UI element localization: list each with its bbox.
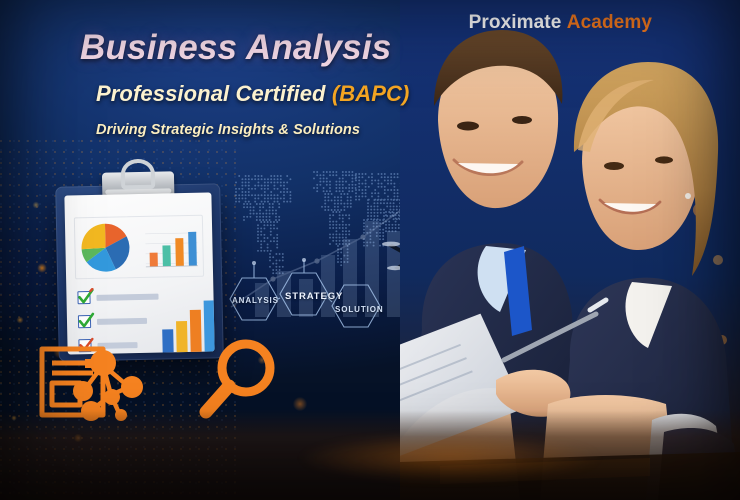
list-item bbox=[77, 289, 171, 304]
placeholder-text-bar bbox=[96, 293, 158, 300]
checkbox-checked[interactable] bbox=[78, 315, 91, 328]
checkbox-checked[interactable] bbox=[77, 291, 90, 304]
logo-word-one: Proximate bbox=[469, 12, 562, 33]
subtitle-acronym: (BAPC) bbox=[332, 81, 410, 106]
tagline: Driving Strategic Insights & Solutions bbox=[96, 122, 360, 138]
clipboard-paper bbox=[64, 192, 214, 354]
hex-label-strategy: STRATEGY bbox=[285, 291, 343, 302]
placeholder-text-bar bbox=[97, 317, 147, 324]
pie-chart bbox=[79, 221, 132, 274]
subtitle-main: Professional Certified bbox=[96, 81, 332, 106]
desk-reflection-glow bbox=[240, 430, 660, 500]
brand-logo: Proximate Academy bbox=[469, 12, 652, 34]
promotional-banner: ANALYSIS STRATEGY SOLUTION bbox=[0, 0, 740, 500]
page-title: Business Analysis bbox=[80, 28, 391, 68]
logo-word-two: Academy bbox=[567, 12, 652, 33]
mini-bar-chart bbox=[139, 225, 200, 272]
page-subtitle: Professional Certified (BAPC) bbox=[96, 81, 409, 107]
hex-label-analysis: ANALYSIS bbox=[232, 296, 279, 305]
hex-label-solution: SOLUTION bbox=[335, 305, 384, 314]
